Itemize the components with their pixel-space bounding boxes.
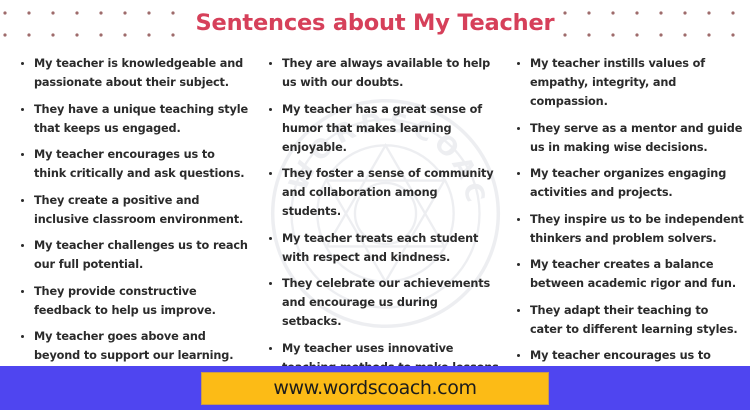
sentence-list-2: They are always available to help us wit… — [266, 54, 500, 410]
sentence-column-3: My teacher instills values of empathy, i… — [506, 48, 750, 366]
sentence-list-3: My teacher instills values of empathy, i… — [514, 54, 744, 410]
list-item: My teacher has a great sense of humor th… — [266, 100, 500, 157]
list-item: They serve as a mentor and guide us in m… — [514, 119, 744, 157]
sentence-column-1: My teacher is knowledgeable and passiona… — [0, 48, 258, 366]
list-item: They create a positive and inclusive cla… — [18, 191, 250, 229]
website-url-badge[interactable]: www.wordscoach.com — [201, 372, 549, 405]
list-item: They celebrate our achievements and enco… — [266, 274, 500, 331]
list-item: My teacher is knowledgeable and passiona… — [18, 54, 250, 92]
list-item: My teacher creates a balance between aca… — [514, 255, 744, 293]
list-item: They provide constructive feedback to he… — [18, 282, 250, 320]
sentence-columns: My teacher is knowledgeable and passiona… — [0, 48, 750, 366]
list-item: My teacher treats each student with resp… — [266, 229, 500, 267]
list-item: They adapt their teaching to cater to di… — [514, 301, 744, 339]
poster-page: Sentences about My Teacher WORDSCOACH My… — [0, 0, 750, 410]
list-item: My teacher encourages us to think critic… — [18, 145, 250, 183]
list-item: They foster a sense of community and col… — [266, 164, 500, 221]
list-item: They inspire us to be independent thinke… — [514, 210, 744, 248]
list-item: They are always available to help us wit… — [266, 54, 500, 92]
title-bar: Sentences about My Teacher — [0, 0, 750, 46]
footer-band: www.wordscoach.com — [0, 366, 750, 410]
list-item: They have a unique teaching style that k… — [18, 100, 250, 138]
sentence-column-2: They are always available to help us wit… — [258, 48, 506, 366]
website-url-label: www.wordscoach.com — [273, 377, 476, 399]
sentence-list-1: My teacher is knowledgeable and passiona… — [18, 54, 250, 410]
list-item: My teacher goes above and beyond to supp… — [18, 327, 250, 365]
list-item: My teacher organizes engaging activities… — [514, 164, 744, 202]
list-item: My teacher challenges us to reach our fu… — [18, 236, 250, 274]
list-item: My teacher instills values of empathy, i… — [514, 54, 744, 111]
page-title: Sentences about My Teacher — [196, 10, 555, 36]
